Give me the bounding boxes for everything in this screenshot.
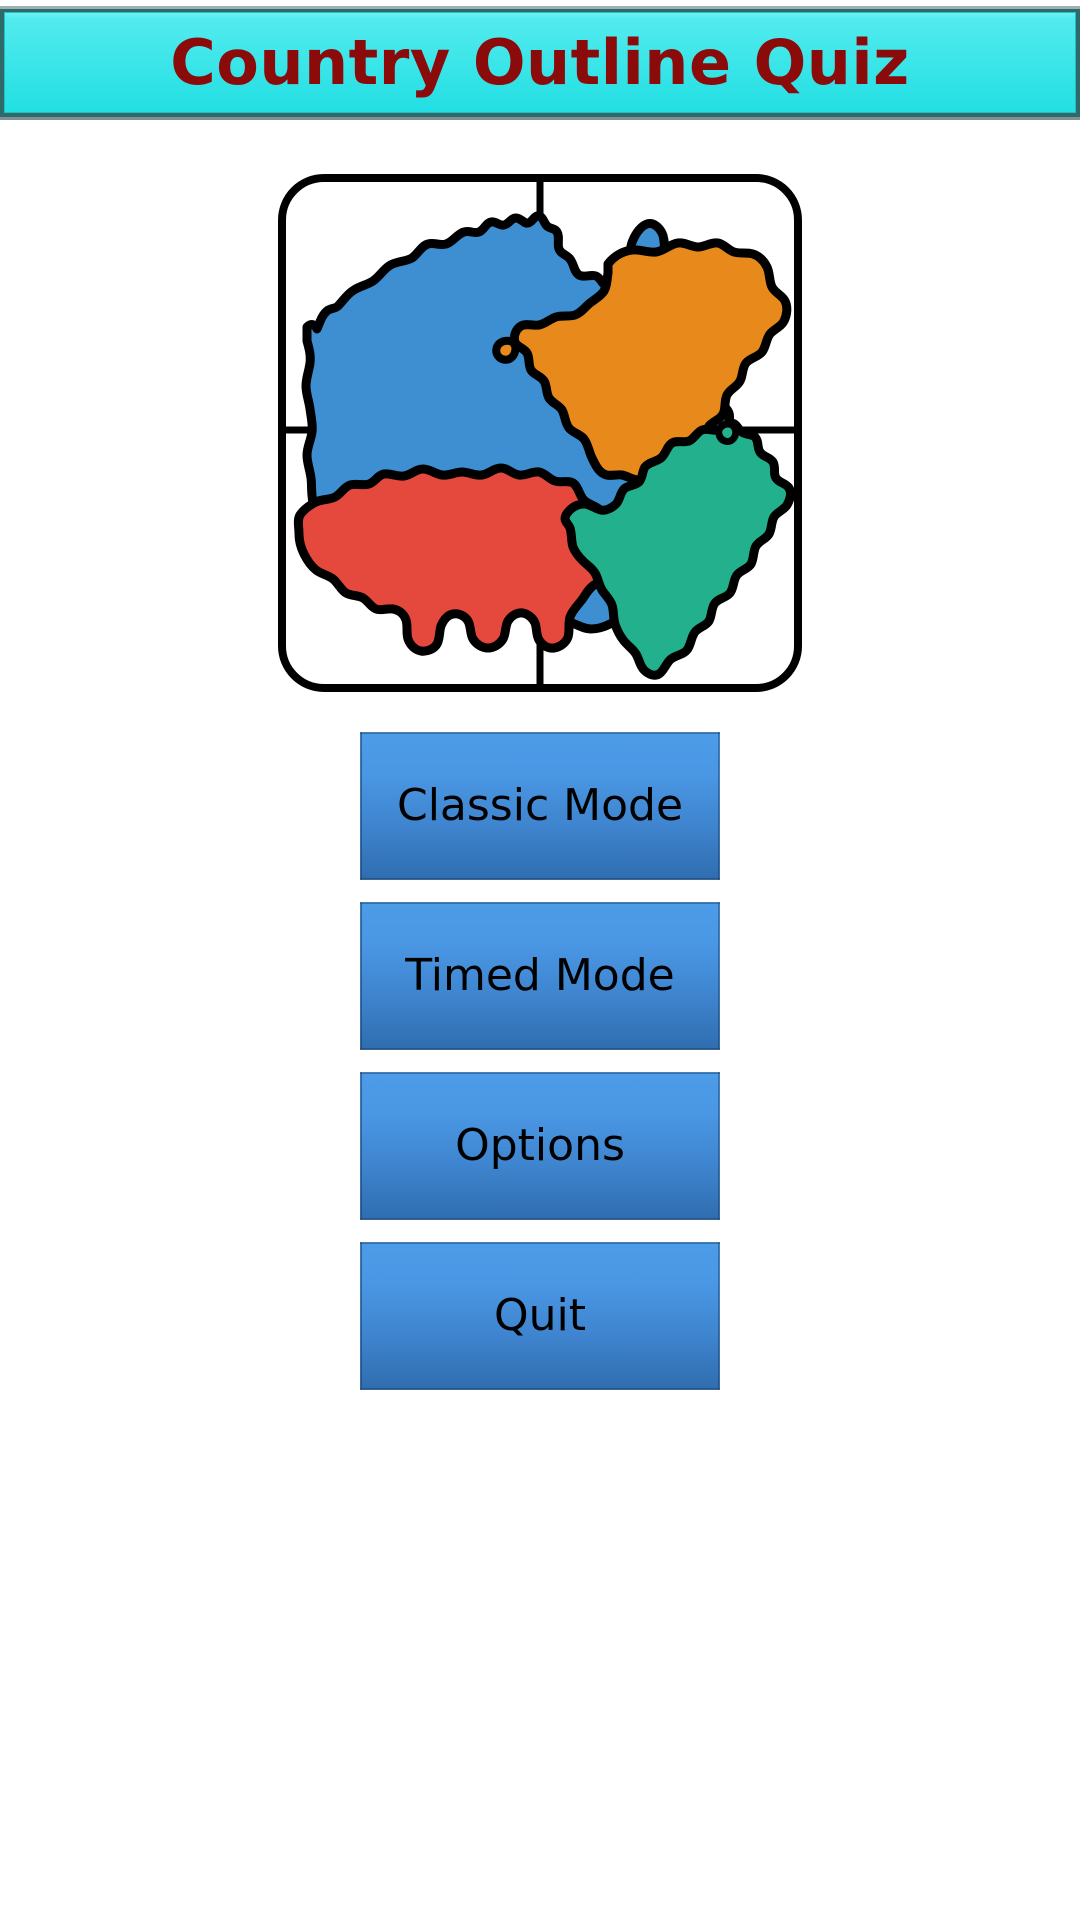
title-bar-inner: Country Outline Quiz (4, 12, 1076, 113)
timed-mode-button[interactable]: Timed Mode (360, 902, 720, 1050)
title-bar: Country Outline Quiz (0, 6, 1080, 120)
country-grid-svg (278, 174, 802, 692)
country-outline-grid-icon (278, 174, 802, 692)
classic-mode-button[interactable]: Classic Mode (360, 732, 720, 880)
options-button[interactable]: Options (360, 1072, 720, 1220)
main-menu: Classic Mode Timed Mode Options Quit (360, 732, 720, 1390)
page-title: Country Outline Quiz (170, 32, 910, 94)
quit-button[interactable]: Quit (360, 1242, 720, 1390)
